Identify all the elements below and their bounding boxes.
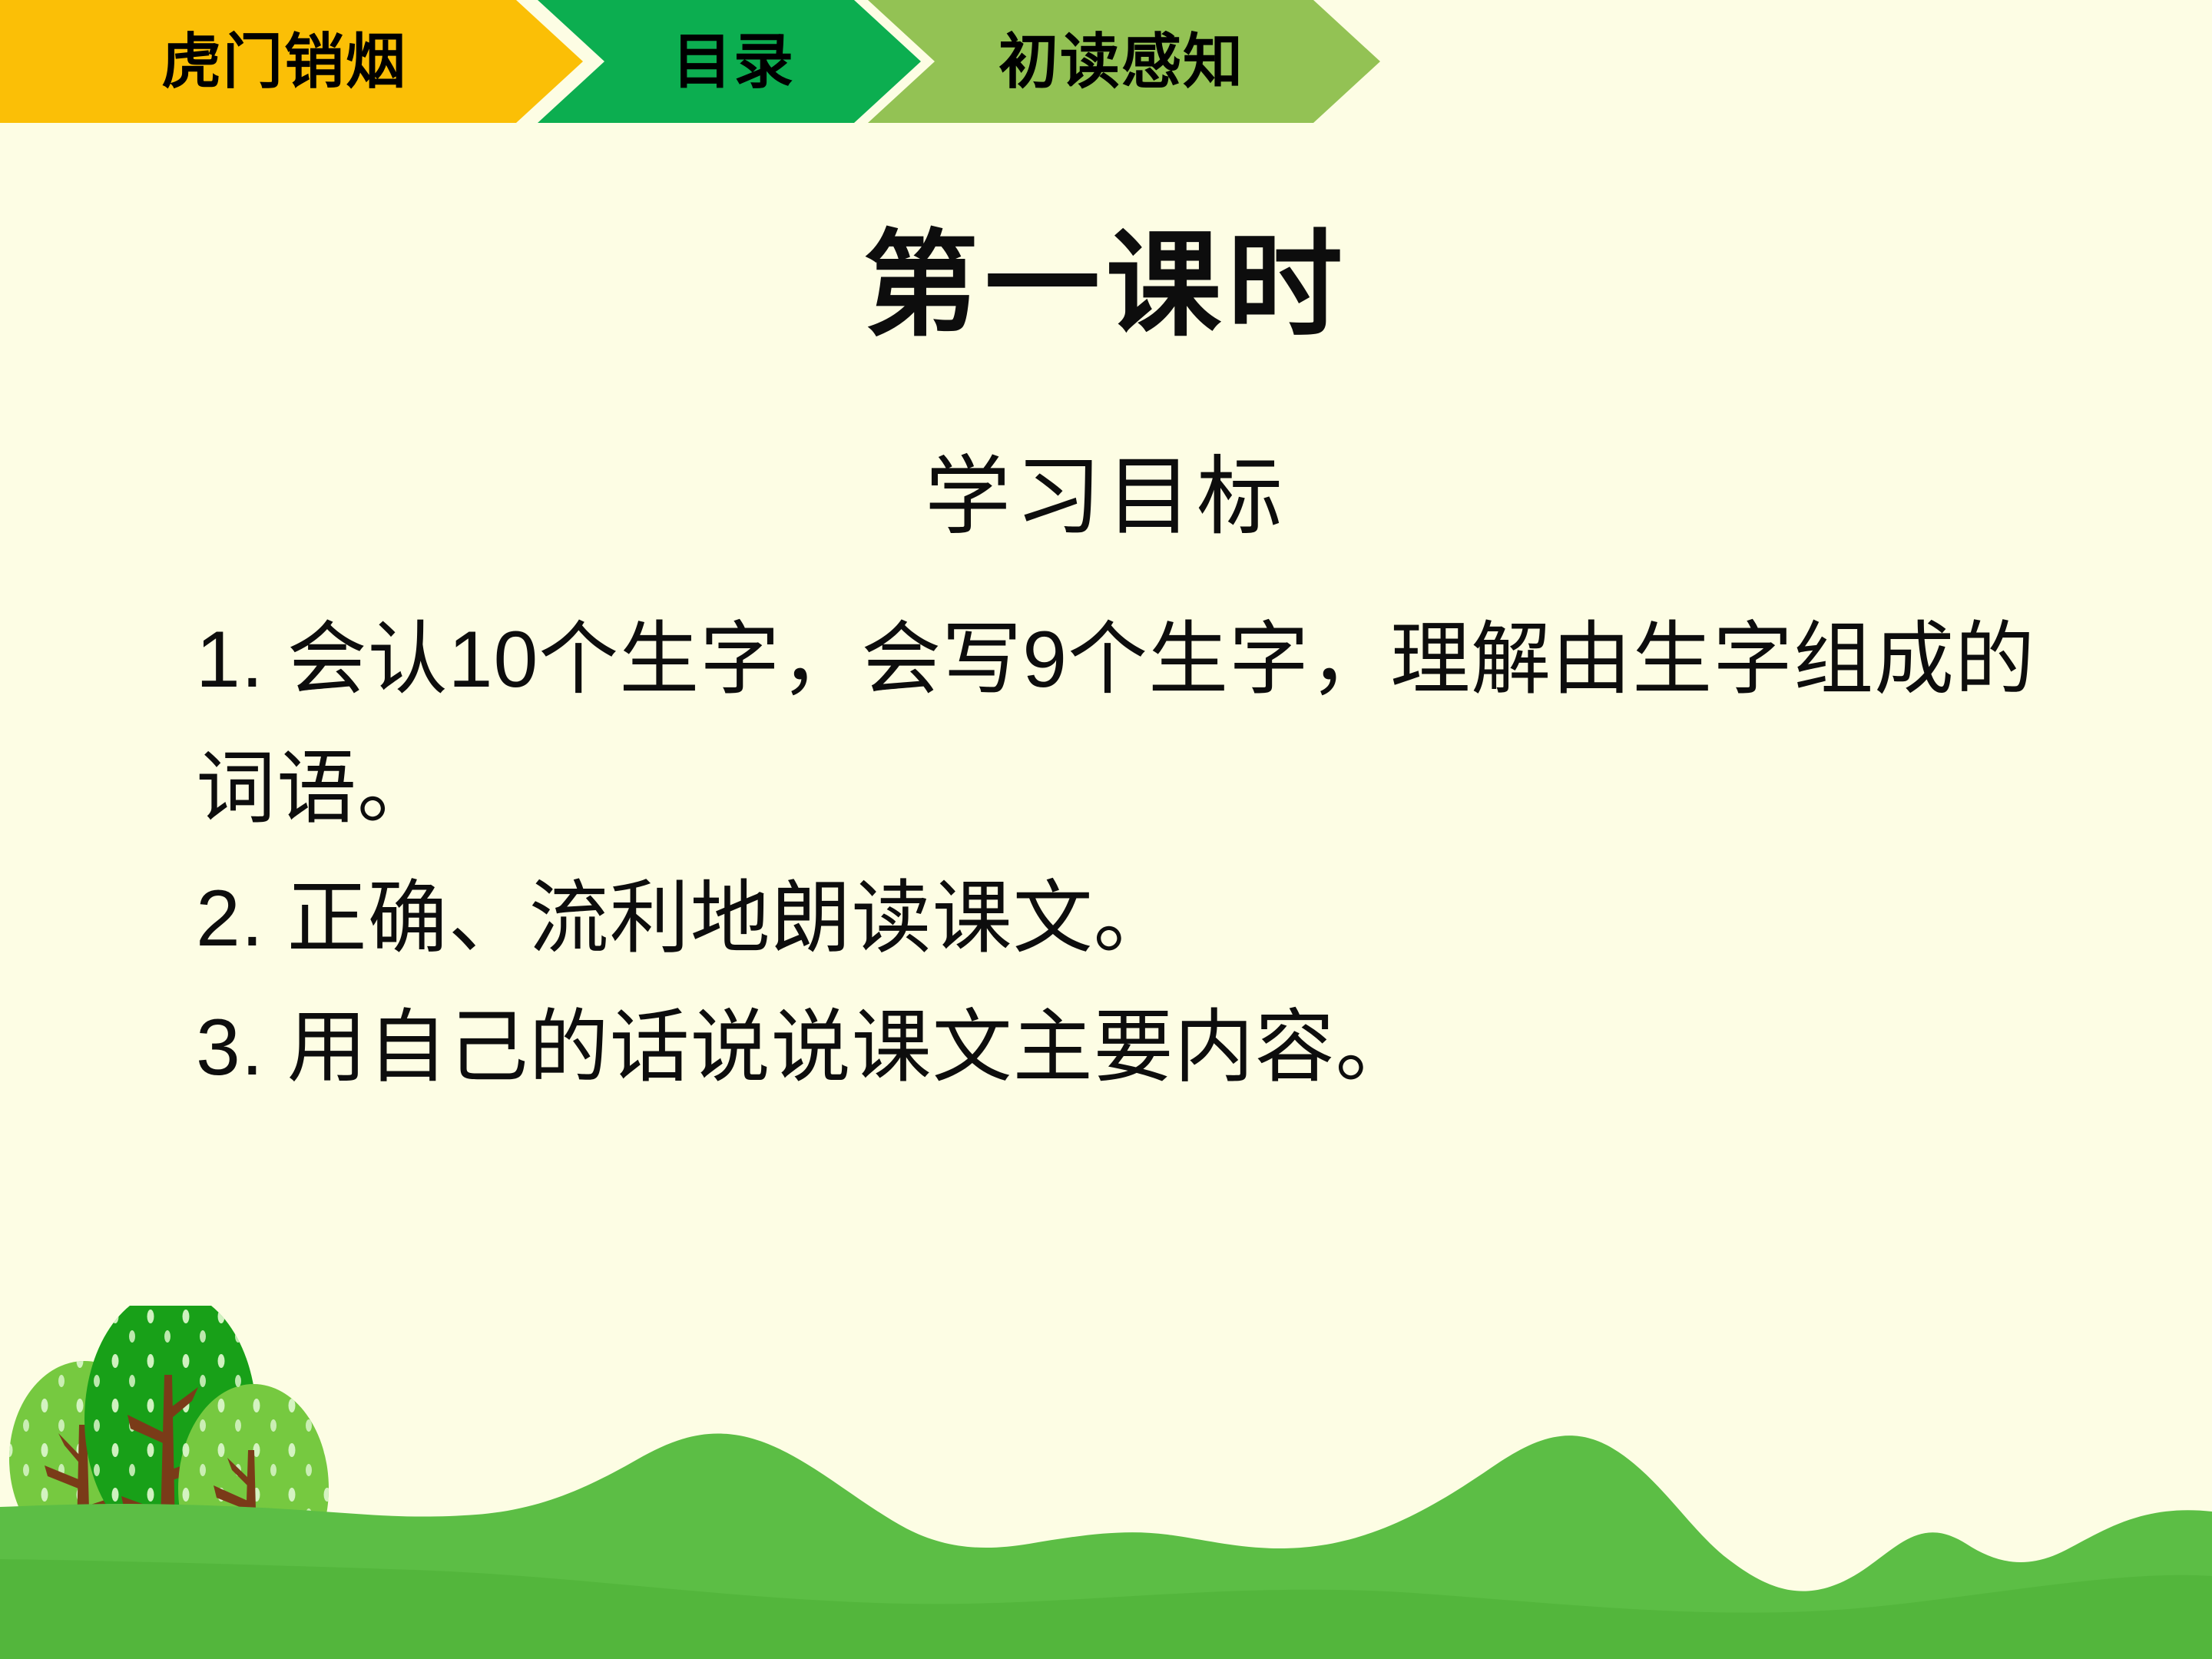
slide-title: 第一课时 bbox=[0, 223, 2212, 347]
breadcrumb: 虎门销烟 目录 初读感知 bbox=[0, 0, 1398, 123]
scenery-decoration bbox=[0, 1306, 2212, 1659]
objective-item: 1. 会认10个生字，会写9个生字，理解由生字组成的词语。 bbox=[196, 595, 2055, 854]
grass-hill-front bbox=[0, 1559, 2212, 1659]
learning-objectives-list: 1. 会认10个生字，会写9个生字，理解由生字组成的词语。 2. 正确、流利地朗… bbox=[196, 595, 2055, 1113]
breadcrumb-item-first-reading[interactable]: 初读感知 bbox=[922, 0, 1321, 123]
objective-item: 3. 用自己的话说说课文主要内容。 bbox=[196, 983, 2055, 1112]
tree-center-icon bbox=[84, 1306, 257, 1613]
slide-subtitle: 学习目标 bbox=[0, 449, 2212, 544]
grass-hill-back bbox=[0, 1434, 2212, 1659]
breadcrumb-item-lesson-title[interactable]: 虎门销烟 bbox=[92, 0, 476, 123]
presentation-slide: 虎门销烟 目录 初读感知 第一课时 学习目标 1. 会认10个生字，会写9个生字… bbox=[0, 0, 2212, 1659]
breadcrumb-item-table-of-contents[interactable]: 目录 bbox=[591, 0, 876, 123]
tree-right-icon bbox=[178, 1384, 329, 1628]
objective-item: 2. 正确、流利地朗读课文。 bbox=[196, 854, 2055, 983]
tree-left-icon bbox=[9, 1361, 160, 1567]
